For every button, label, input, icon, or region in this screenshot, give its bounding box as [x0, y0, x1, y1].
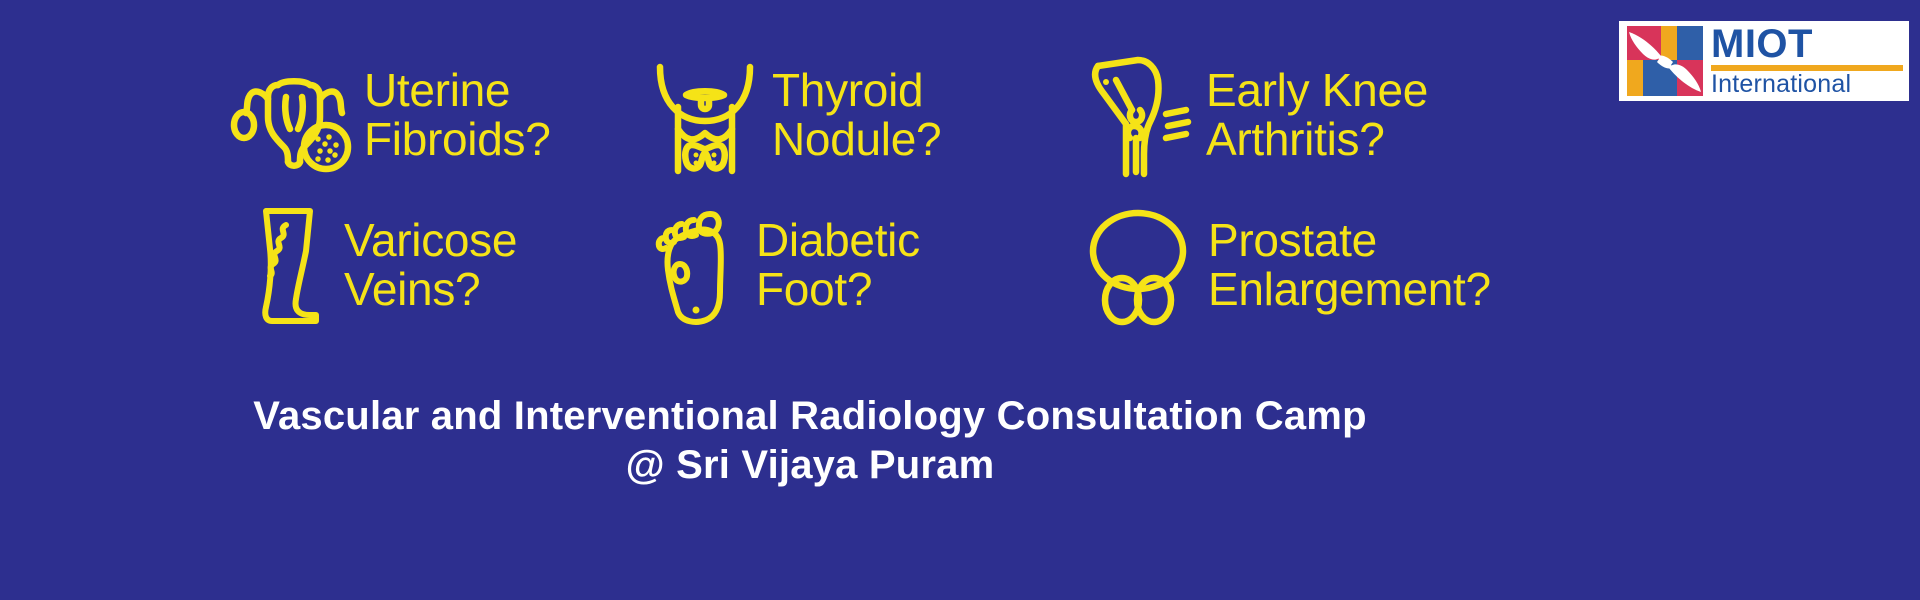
- miot-wordmark: MIOT International: [1703, 21, 1909, 101]
- condition-item-thyroid-nodule: Thyroid Nodule?: [652, 40, 1082, 190]
- uterus-fibroid-icon: [232, 53, 350, 177]
- miot-logo[interactable]: MIOT International: [1619, 21, 1909, 101]
- conditions-grid: Uterine Fibroids?: [232, 40, 1652, 360]
- miot-crest-icon: [1627, 26, 1703, 96]
- condition-item-knee-arthritis: Early Knee Arthritis?: [1082, 40, 1512, 190]
- headline-line-1: Vascular and Interventional Radiology Co…: [0, 392, 1620, 441]
- miot-name: MIOT: [1711, 25, 1903, 63]
- condition-label: Uterine Fibroids?: [364, 66, 551, 164]
- thyroid-neck-icon: [652, 53, 758, 177]
- condition-item-varicose-veins: Varicose Veins?: [232, 190, 652, 340]
- condition-label: Early Knee Arthritis?: [1206, 66, 1428, 164]
- knee-joint-pain-icon: [1082, 53, 1192, 177]
- condition-label: Varicose Veins?: [344, 216, 517, 314]
- condition-item-uterine-fibroids: Uterine Fibroids?: [232, 40, 652, 190]
- miot-subtitle: International: [1711, 72, 1903, 97]
- condition-item-prostate-enlargement: Prostate Enlargement?: [1082, 190, 1512, 340]
- bladder-prostate-icon: [1082, 203, 1194, 327]
- condition-label: Diabetic Foot?: [756, 216, 920, 314]
- condition-label: Thyroid Nodule?: [772, 66, 941, 164]
- headline: Vascular and Interventional Radiology Co…: [0, 392, 1620, 490]
- condition-item-diabetic-foot: Diabetic Foot?: [652, 190, 1082, 340]
- leg-varicose-vein-icon: [252, 203, 330, 327]
- foot-sole-ulcer-icon: [652, 203, 742, 327]
- promo-banner: Uterine Fibroids?: [0, 0, 1920, 600]
- headline-line-2: @ Sri Vijaya Puram: [0, 441, 1620, 490]
- condition-label: Prostate Enlargement?: [1208, 216, 1491, 314]
